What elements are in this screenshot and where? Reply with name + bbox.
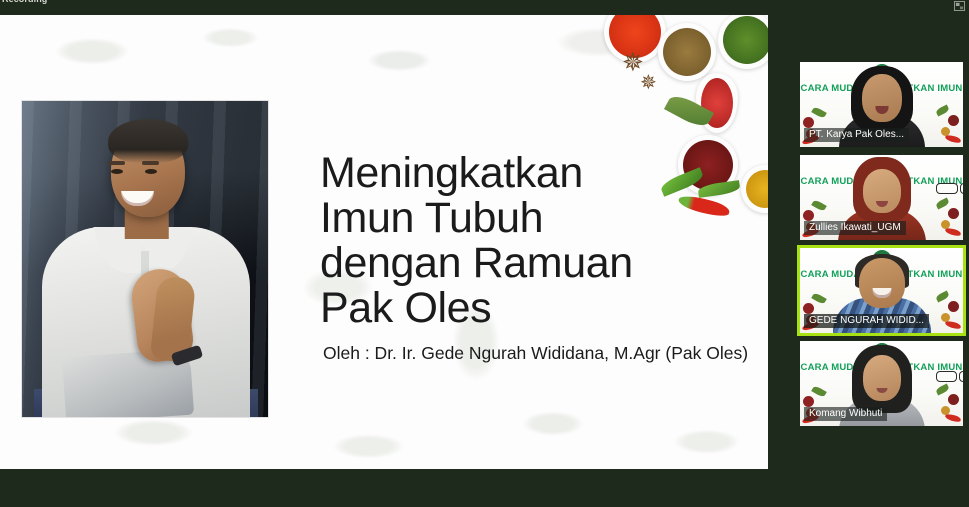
participant-name-label: Zullies Ikawati_UGM [804, 221, 906, 235]
participant-tile-2[interactable]: CARA MUDAH TINGKATKAN IMUN Sehat Bersama… [800, 155, 963, 240]
vb-spice-right [933, 289, 963, 333]
participant-video-strip[interactable]: CARA MUDAH TINGKATKAN IMUN Sehat Bersama… [800, 62, 963, 434]
vb-spice-right [933, 382, 963, 426]
participant-tile-4[interactable]: CARA MUDAH TINGKATKAN IMUN Sehat Bersama… [800, 341, 963, 426]
recording-indicator-label: Recording [2, 0, 47, 4]
participant-tile-3-active-speaker[interactable]: CARA MUDAH TINGKATKAN IMUN Sehat Bersama… [800, 248, 963, 333]
participant-name-label: PT. Karya Pak Oles... [804, 128, 909, 142]
shared-screen-slide[interactable]: ✵ ✵ Meningkatkan Imun Tubuh dengan Ramua… [0, 15, 768, 469]
slide-title-line-3: dengan Ramuan [320, 241, 690, 286]
page-title: Meningkatkan Imun Tubuh dengan Ramuan Pa… [320, 151, 690, 332]
slide-subtitle: Oleh : Dr. Ir. Gede Ngurah Wididana, M.A… [323, 343, 748, 364]
meeting-top-bar: Recording [0, 0, 969, 14]
participant-tile-1[interactable]: CARA MUDAH TINGKATKAN IMUN Sehat Bersama… [800, 62, 963, 147]
participant-name-label: Komang Wibhuti [804, 407, 887, 421]
expand-fullscreen-icon[interactable] [954, 1, 965, 11]
slide-title-line-2: Imun Tubuh [320, 196, 690, 241]
participant-name-label: GEDE NGURAH WIDID... [804, 314, 929, 328]
speaker-portrait-photo [22, 101, 268, 417]
vb-spice-right [933, 196, 963, 240]
slide-title-line-4: Pak Oles [320, 286, 690, 331]
vb-spice-right [933, 103, 963, 147]
slide-title-line-1: Meningkatkan [320, 151, 690, 196]
